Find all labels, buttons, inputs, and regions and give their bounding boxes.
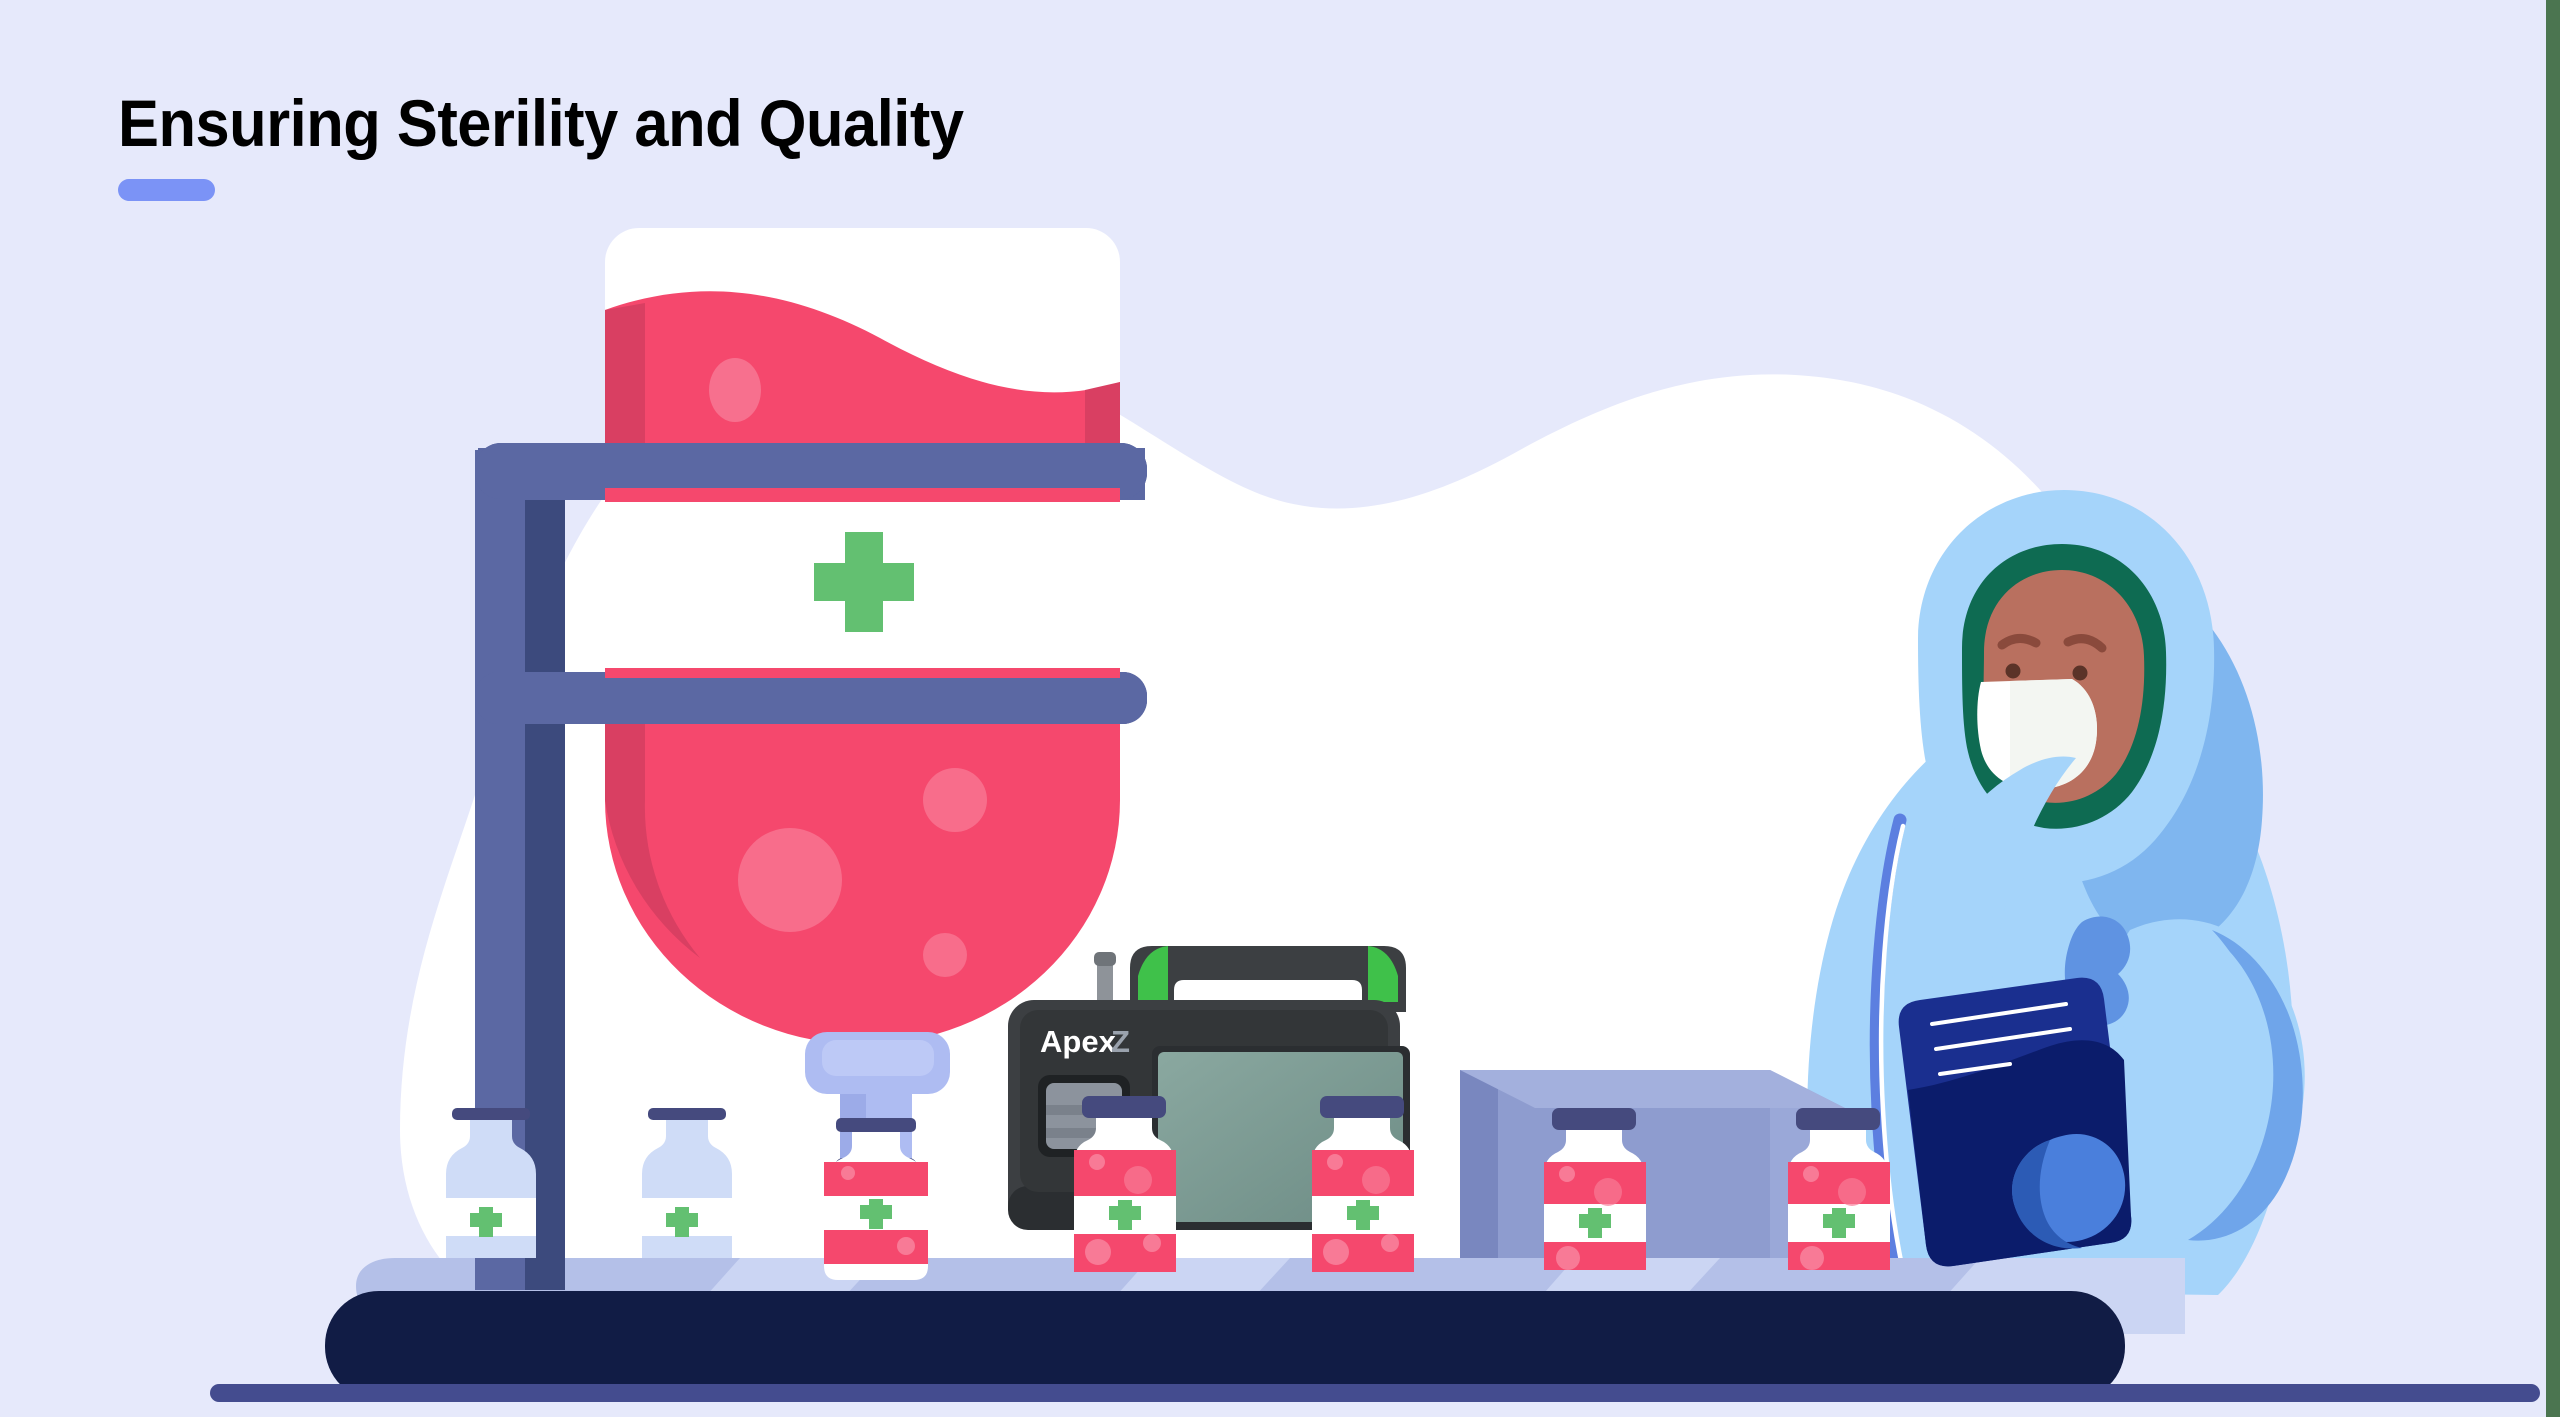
device-brand-secondary: Z <box>1111 1024 1130 1059</box>
page-header: Ensuring Sterility and Quality <box>118 90 1027 201</box>
eye-right <box>2073 666 2088 681</box>
illustration-page: Ensuring Sterility and Quality <box>0 0 2560 1417</box>
shipping-crate <box>1460 1070 1845 1258</box>
device-brand-primary: Apex <box>1040 1024 1117 1059</box>
eye-left <box>2006 664 2021 679</box>
illustration-canvas: Apex Z <box>0 0 2560 1417</box>
right-edge-strip <box>2546 0 2560 1417</box>
page-title: Ensuring Sterility and Quality <box>118 90 964 156</box>
title-accent-bar <box>118 179 215 201</box>
